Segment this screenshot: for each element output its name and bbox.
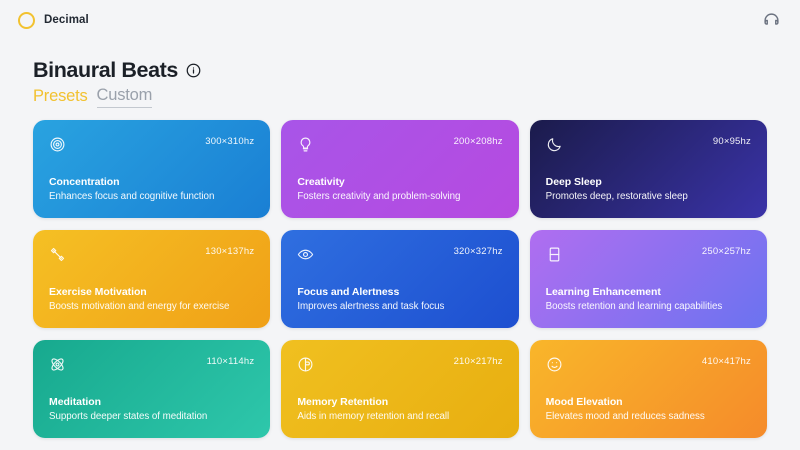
card-frequency-label: 250×257hz	[702, 246, 751, 257]
decimal-circle-logo-icon	[18, 12, 35, 29]
preset-card[interactable]: 210×217hzMemory RetentionAids in memory …	[281, 340, 518, 438]
card-body: CreativityFosters creativity and problem…	[297, 176, 502, 202]
card-top-row: 410×417hz	[546, 356, 751, 373]
card-title: Exercise Motivation	[49, 286, 254, 298]
card-frequency-label: 300×310hz	[205, 136, 254, 147]
card-body: Learning EnhancementBoosts retention and…	[546, 286, 751, 312]
card-body: Mood ElevationElevates mood and reduces …	[546, 396, 751, 422]
eye-icon	[297, 246, 314, 263]
view-mode-tabs: Presets Custom	[33, 86, 800, 108]
card-title: Meditation	[49, 396, 254, 408]
preset-card[interactable]: 250×257hzLearning EnhancementBoosts rete…	[530, 230, 767, 328]
page-heading-section: Binaural Beats Presets Custom	[0, 40, 800, 108]
card-description: Boosts retention and learning capabiliti…	[546, 301, 751, 312]
card-body: Deep SleepPromotes deep, restorative sle…	[546, 176, 751, 202]
card-description: Enhances focus and cognitive function	[49, 191, 254, 202]
card-top-row: 90×95hz	[546, 136, 751, 153]
target-icon	[49, 136, 66, 153]
card-top-row: 130×137hz	[49, 246, 254, 263]
card-title: Creativity	[297, 176, 502, 188]
card-frequency-label: 110×114hz	[207, 356, 255, 367]
brain-icon	[297, 356, 314, 373]
preset-card[interactable]: 300×310hzConcentrationEnhances focus and…	[33, 120, 270, 218]
top-bar: Decimal	[0, 0, 800, 40]
preset-card[interactable]: 410×417hzMood ElevationElevates mood and…	[530, 340, 767, 438]
card-title: Deep Sleep	[546, 176, 751, 188]
card-description: Fosters creativity and problem-solving	[297, 191, 502, 202]
card-frequency-label: 130×137hz	[205, 246, 254, 257]
preset-card[interactable]: 200×208hzCreativityFosters creativity an…	[281, 120, 518, 218]
presets-grid: 300×310hzConcentrationEnhances focus and…	[0, 120, 800, 438]
card-top-row: 200×208hz	[297, 136, 502, 153]
card-description: Improves alertness and task focus	[297, 301, 502, 312]
card-description: Promotes deep, restorative sleep	[546, 191, 751, 202]
card-title: Focus and Alertness	[297, 286, 502, 298]
page-title: Binaural Beats	[33, 58, 178, 83]
dumbbell-icon	[49, 246, 66, 263]
moon-icon	[546, 136, 563, 153]
card-frequency-label: 410×417hz	[702, 356, 751, 367]
brand-logo[interactable]: Decimal	[18, 12, 89, 29]
card-body: Exercise MotivationBoosts motivation and…	[49, 286, 254, 312]
card-top-row: 210×217hz	[297, 356, 502, 373]
card-body: MeditationSupports deeper states of medi…	[49, 396, 254, 422]
card-top-row: 300×310hz	[49, 136, 254, 153]
card-frequency-label: 320×327hz	[454, 246, 503, 257]
preset-card[interactable]: 130×137hzExercise MotivationBoosts motiv…	[33, 230, 270, 328]
tab-custom[interactable]: Custom	[97, 86, 153, 108]
info-circle-icon[interactable]	[186, 63, 201, 78]
tab-presets[interactable]: Presets	[33, 87, 88, 108]
preset-card[interactable]: 110×114hzMeditationSupports deeper state…	[33, 340, 270, 438]
lightbulb-icon	[297, 136, 314, 153]
brand-name-label: Decimal	[44, 14, 89, 26]
card-frequency-label: 90×95hz	[713, 136, 751, 147]
headphones-button[interactable]	[760, 9, 782, 31]
card-frequency-label: 200×208hz	[454, 136, 503, 147]
card-top-row: 250×257hz	[546, 246, 751, 263]
card-frequency-label: 210×217hz	[454, 356, 503, 367]
card-description: Elevates mood and reduces sadness	[546, 411, 751, 422]
card-body: Focus and AlertnessImproves alertness an…	[297, 286, 502, 312]
card-title: Mood Elevation	[546, 396, 751, 408]
card-description: Aids in memory retention and recall	[297, 411, 502, 422]
book-icon	[546, 246, 563, 263]
smile-icon	[546, 356, 563, 373]
page-title-row: Binaural Beats	[33, 58, 800, 83]
card-title: Memory Retention	[297, 396, 502, 408]
card-body: Memory RetentionAids in memory retention…	[297, 396, 502, 422]
preset-card[interactable]: 90×95hzDeep SleepPromotes deep, restorat…	[530, 120, 767, 218]
card-title: Learning Enhancement	[546, 286, 751, 298]
headphones-icon	[763, 12, 780, 29]
card-title: Concentration	[49, 176, 254, 188]
atom-icon	[49, 356, 66, 373]
card-top-row: 110×114hz	[49, 356, 254, 373]
card-description: Boosts motivation and energy for exercis…	[49, 301, 254, 312]
card-body: ConcentrationEnhances focus and cognitiv…	[49, 176, 254, 202]
preset-card[interactable]: 320×327hzFocus and AlertnessImproves ale…	[281, 230, 518, 328]
card-description: Supports deeper states of meditation	[49, 411, 254, 422]
card-top-row: 320×327hz	[297, 246, 502, 263]
